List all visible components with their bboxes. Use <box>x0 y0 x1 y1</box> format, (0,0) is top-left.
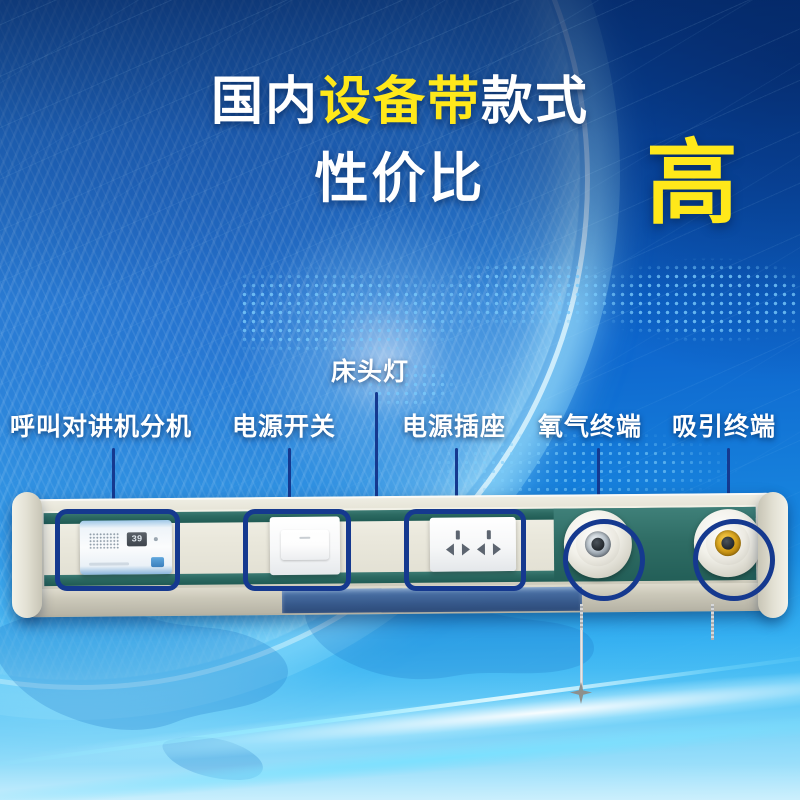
headline-segment-yellow: 设备带 <box>319 73 481 131</box>
highlight-box-suction-terminal <box>693 519 775 601</box>
highlight-box-oxygen-terminal <box>563 519 645 601</box>
callout-oxygen-terminal: 氧气终端 <box>538 415 642 440</box>
highlight-box-power-switch <box>243 509 351 591</box>
callout-bed-lamp: 床头灯 <box>331 360 409 385</box>
panel-endcap-left <box>12 492 42 618</box>
halftone-world-map <box>240 236 800 426</box>
suction-hose-curl <box>711 604 714 640</box>
headline-line-1: 国内设备带款式 <box>0 76 800 128</box>
callout-power-switch: 电源开关 <box>232 415 336 440</box>
highlight-box-intercom <box>55 509 180 591</box>
oxygen-hose-curl <box>580 604 583 632</box>
callout-power-socket: 电源插座 <box>402 415 506 440</box>
callout-suction-terminal: 吸引终端 <box>672 415 776 440</box>
callout-intercom: 呼叫对讲机分机 <box>10 415 192 440</box>
highlight-box-power-socket <box>404 509 526 591</box>
promo-stage: 国内设备带款式 性价比 高 呼叫对讲机分机 电源开关 床头灯 电源插座 氧气终端… <box>0 0 800 800</box>
headline-segment-white-2: 款式 <box>481 73 589 131</box>
headline-emphasis: 高 <box>646 138 738 230</box>
oxygen-hose <box>580 630 583 688</box>
headline-segment-white-1: 国内 <box>211 73 319 131</box>
